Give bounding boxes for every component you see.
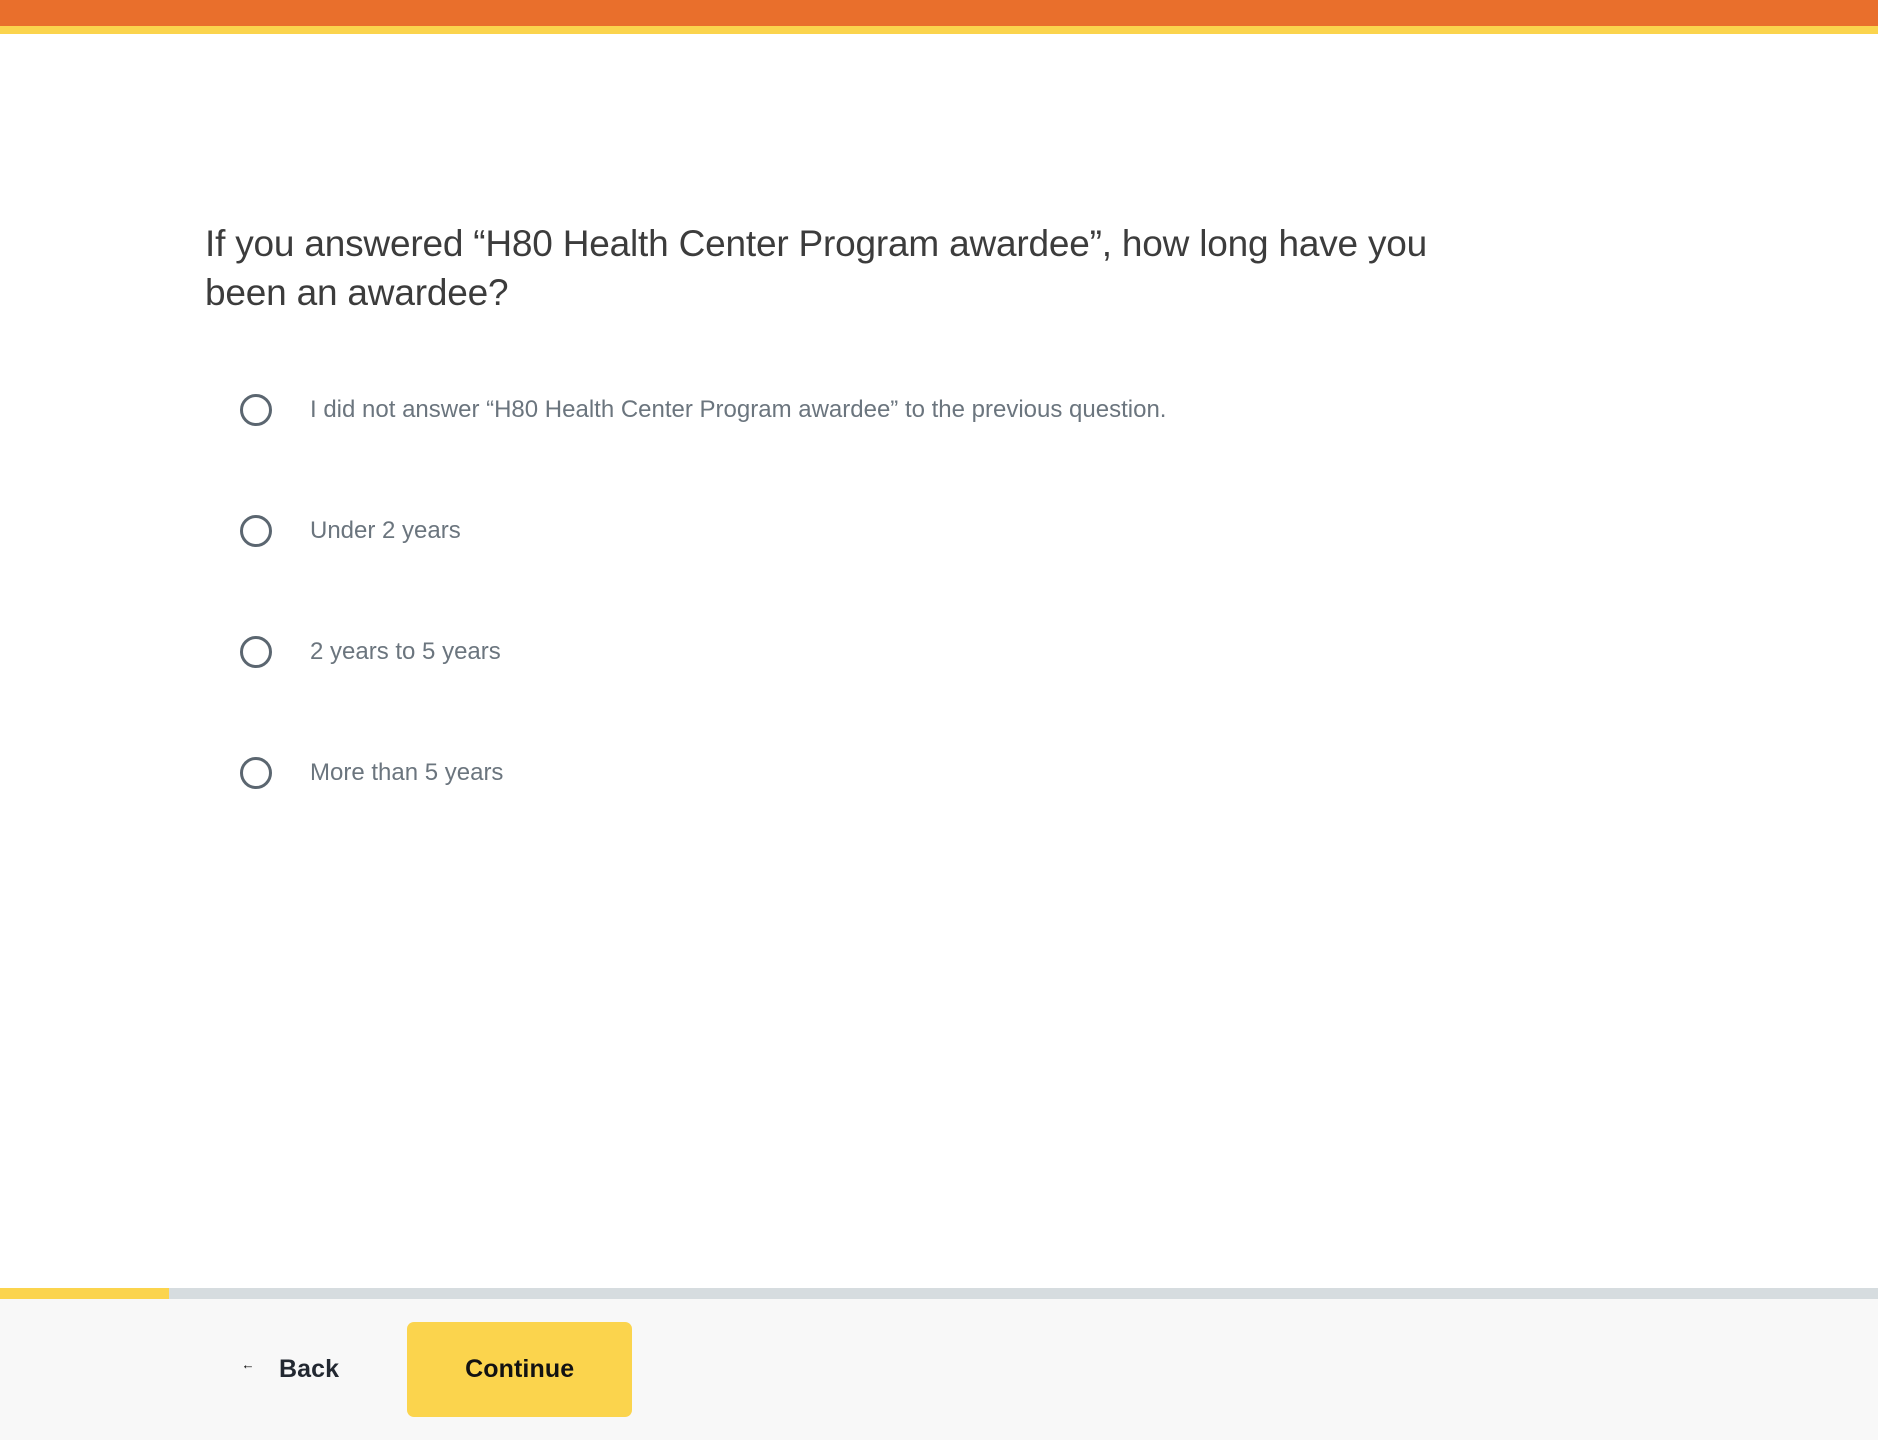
radio-option-label: 2 years to 5 years (310, 636, 501, 667)
radio-circle-icon[interactable] (240, 394, 272, 426)
survey-page: If you answered “H80 Health Center Progr… (0, 34, 1878, 1288)
footer-actions: ← Back Continue (0, 1299, 1878, 1440)
back-button[interactable]: ← Back (225, 1345, 345, 1394)
radio-circle-icon[interactable] (240, 757, 272, 789)
radio-circle-icon[interactable] (240, 636, 272, 668)
radio-option-group: I did not answer “H80 Health Center Prog… (205, 379, 1605, 863)
radio-option-2[interactable]: Under 2 years (205, 500, 1605, 562)
survey-footer: ← Back Continue (0, 1288, 1878, 1440)
radio-option-label: I did not answer “H80 Health Center Prog… (310, 394, 1166, 425)
brand-bar-yellow (0, 26, 1878, 34)
brand-bar-orange (0, 0, 1878, 26)
radio-option-label: Under 2 years (310, 515, 461, 546)
radio-option-3[interactable]: 2 years to 5 years (205, 621, 1605, 683)
radio-option-4[interactable]: More than 5 years (205, 742, 1605, 804)
progress-bar-track (0, 1288, 1878, 1299)
continue-button[interactable]: Continue (407, 1322, 632, 1417)
radio-option-1[interactable]: I did not answer “H80 Health Center Prog… (205, 379, 1605, 441)
question-heading: If you answered “H80 Health Center Progr… (205, 219, 1505, 317)
back-button-label: Back (279, 1355, 339, 1384)
radio-circle-icon[interactable] (240, 515, 272, 547)
arrow-left-icon: ← (231, 1358, 265, 1382)
progress-bar-fill (0, 1288, 169, 1299)
radio-option-label: More than 5 years (310, 757, 503, 788)
